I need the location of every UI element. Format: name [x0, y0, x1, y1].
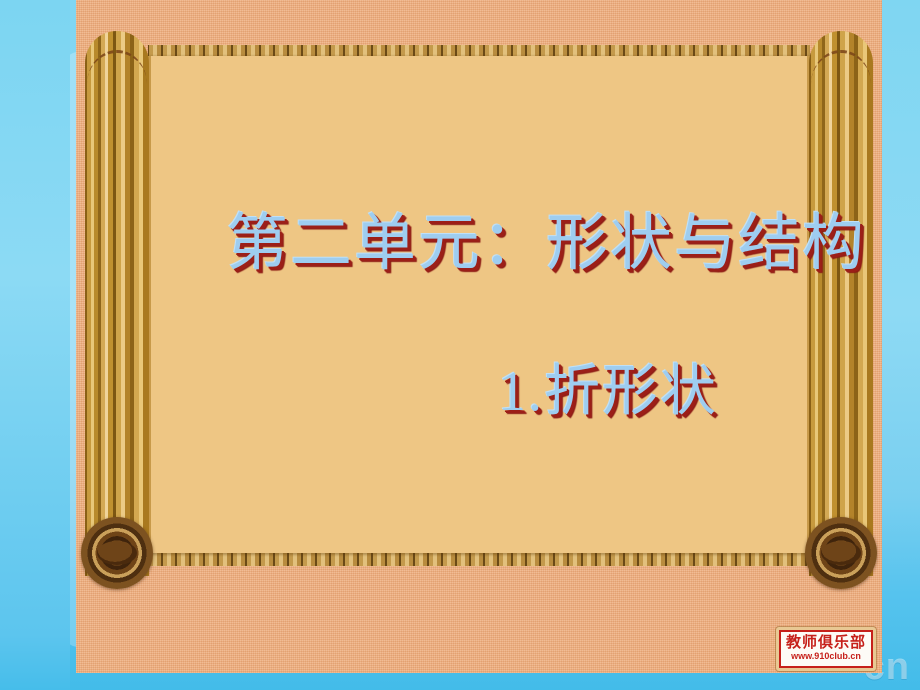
scroll-rod-left-end [81, 517, 153, 589]
scroll-band-bottom [148, 553, 810, 566]
scroll-rod-left [85, 31, 149, 576]
scroll-rod-left-arc [87, 50, 147, 84]
stamp-frame: 教师俱乐部 www.910club.cn [779, 630, 873, 668]
slide-subtitle[interactable]: 1.折形状 [498, 363, 866, 422]
slide-title[interactable]: 第二单元：形状与结构 [226, 212, 866, 277]
slide-canvas[interactable]: 第二单元：形状与结构 1.折形状 教师俱乐部 www.910club.cn [76, 0, 882, 673]
stamp-organization-name: 教师俱乐部 [786, 636, 866, 652]
viewer-left-gradient-strip [0, 0, 70, 690]
scroll-rod-right-end [805, 517, 877, 589]
stamp-website-url: www.910club.cn [791, 651, 861, 662]
slide-text-block: 第二单元：形状与结构 1.折形状 [226, 212, 866, 422]
presentation-viewer: cn 第二单元：形状与结构 1.折形状 教师俱乐部 www.910club.c [0, 0, 920, 690]
scroll-rod-right-arc [811, 50, 871, 84]
teacher-club-stamp-watermark: 教师俱乐部 www.910club.cn [776, 627, 876, 671]
